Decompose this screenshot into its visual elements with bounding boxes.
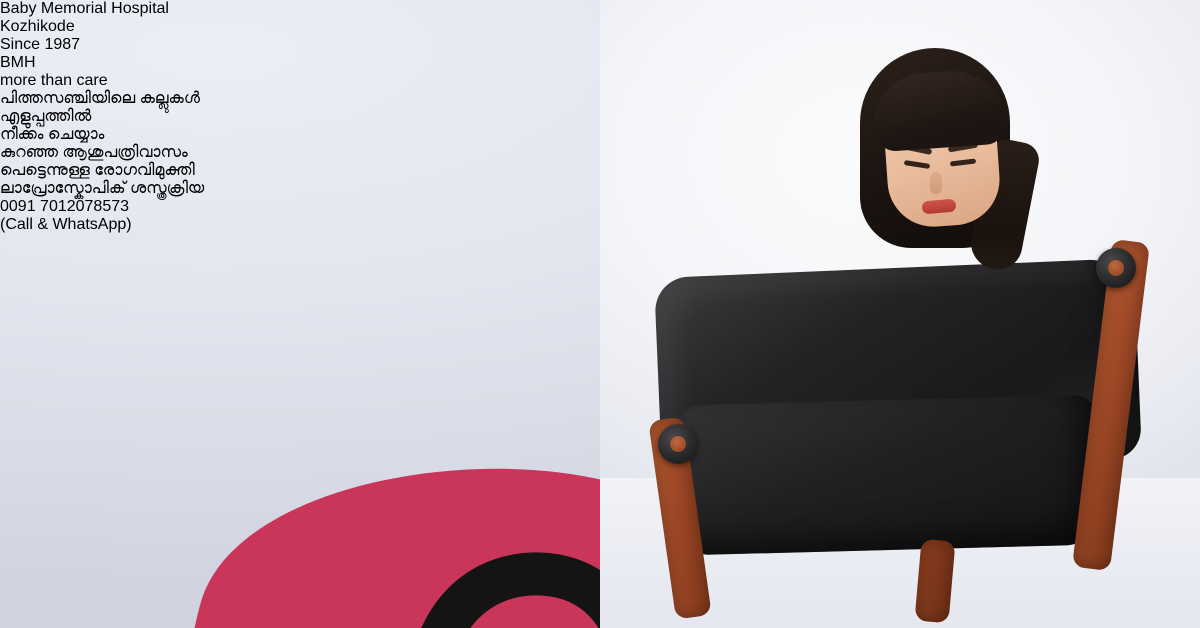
bullet-label: പെട്ടെന്നുള്ള രോഗവിമുക്തി	[0, 162, 195, 179]
woman-figure	[710, 20, 1130, 628]
nose	[930, 172, 942, 194]
chair-knob-left	[658, 424, 698, 464]
headline-line-1-heavy: കല്ലുകൾ	[140, 90, 200, 107]
bullet-label: കുറഞ്ഞ ആശുപത്രിവാസം	[0, 144, 188, 161]
hospital-name-accent-letter: a	[11, 0, 20, 17]
hospital-name-prefix: B	[0, 0, 11, 17]
liver-left-lobe	[185, 469, 610, 628]
hospital-name-rest: by Memorial Hospital	[20, 0, 169, 17]
headline-line-1-light: പിത്തസഞ്ചിയിലെ	[0, 90, 135, 107]
neck	[916, 216, 972, 260]
advertisement-banner: Baby Memorial Hospital Kozhikode Since 1…	[0, 0, 1200, 628]
bullet-label: ലാപ്രോസ്കോപിക് ശസ്ത്രക്രിയ	[0, 180, 204, 197]
patient-photo	[600, 0, 1200, 628]
